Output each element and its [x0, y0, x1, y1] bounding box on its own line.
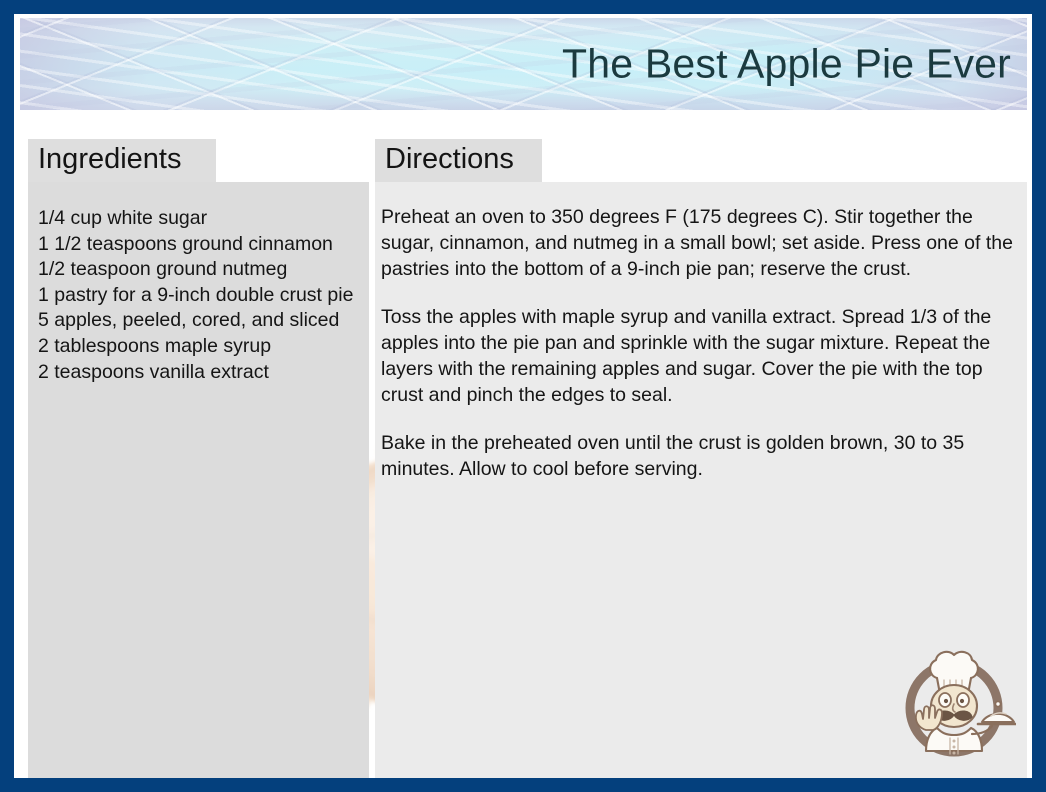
- directions-paragraph: Preheat an oven to 350 degrees F (175 de…: [381, 204, 1021, 282]
- directions-paragraph: Toss the apples with maple syrup and van…: [381, 304, 1021, 408]
- list-item: 1/2 teaspoon ground nutmeg: [38, 257, 361, 283]
- recipe-slide: The Best Apple Pie Ever: [0, 0, 1046, 792]
- directions-paragraph: Bake in the preheated oven until the cru…: [381, 430, 1021, 482]
- directions-text: Preheat an oven to 350 degrees F (175 de…: [375, 182, 1027, 792]
- list-item: 1 1/2 teaspoons ground cinnamon: [38, 232, 361, 258]
- page-title: The Best Apple Pie Ever: [562, 41, 1011, 88]
- ingredients-heading: Ingredients: [28, 139, 216, 182]
- list-item: 1/4 cup white sugar: [38, 206, 361, 232]
- ingredients-list: 1/4 cup white sugar 1 1/2 teaspoons grou…: [28, 182, 369, 792]
- title-banner: The Best Apple Pie Ever: [20, 18, 1027, 110]
- list-item: 1 pastry for a 9-inch double crust pie: [38, 283, 361, 309]
- directions-heading: Directions: [375, 139, 542, 182]
- list-item: 2 tablespoons maple syrup: [38, 334, 361, 360]
- list-item: 2 teaspoons vanilla extract: [38, 360, 361, 386]
- list-item: 5 apples, peeled, cored, and sliced: [38, 308, 361, 334]
